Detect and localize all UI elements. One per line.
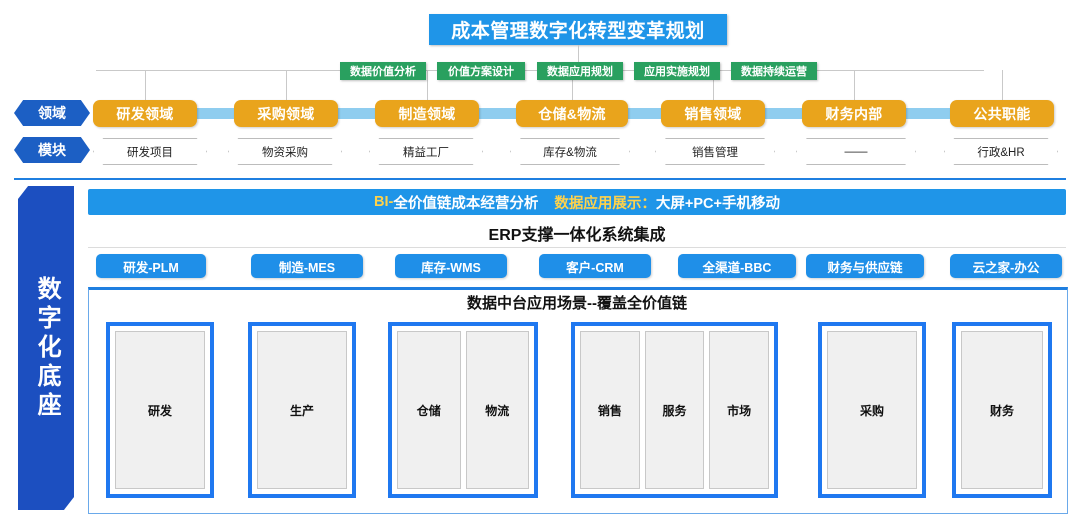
phase-box[interactable]: 数据应用规划: [537, 62, 623, 80]
scenario-group: 仓储物流: [388, 322, 538, 498]
erp-system-button[interactable]: 制造-MES: [251, 254, 363, 278]
scenario-cell[interactable]: 物流: [466, 331, 530, 489]
bus-drop-7: [1002, 70, 1003, 100]
section-divider: [14, 178, 1066, 180]
scenario-group: 研发: [106, 322, 214, 498]
scenario-cell[interactable]: 采购: [827, 331, 917, 489]
phase-box[interactable]: 数据持续运营: [731, 62, 817, 80]
scenario-group: 销售服务市场: [571, 322, 778, 498]
bi-accent-1: BI-: [374, 194, 393, 210]
domain-pill[interactable]: 销售领域: [661, 100, 765, 127]
erp-system-button[interactable]: 研发-PLM: [96, 254, 206, 278]
domain-pill[interactable]: 制造领域: [375, 100, 479, 127]
module-hexagon[interactable]: 库存&物流: [510, 138, 630, 165]
domain-pill[interactable]: 公共职能: [950, 100, 1054, 127]
domain-connector-arrow: [758, 108, 808, 119]
bi-accent-2: 数据应用展示：: [554, 192, 656, 213]
bi-bar[interactable]: BI-全价值链成本经营分析 数据应用展示：大屏+PC+手机移动: [88, 189, 1066, 215]
phase-box[interactable]: 应用实施规划: [634, 62, 720, 80]
module-hexagon[interactable]: ——: [796, 138, 916, 165]
row-label-domain: 领域: [14, 100, 90, 126]
bus-drop-3: [427, 70, 428, 100]
domain-pill[interactable]: 仓储&物流: [516, 100, 628, 127]
scenario-group: 采购: [818, 322, 926, 498]
phase-box[interactable]: 数据价值分析: [340, 62, 426, 80]
erp-system-button[interactable]: 全渠道-BBC: [678, 254, 796, 278]
domain-connector-arrow: [472, 108, 522, 119]
scenario-cell[interactable]: 服务: [645, 331, 705, 489]
scenario-group: 生产: [248, 322, 356, 498]
module-hexagon[interactable]: 销售管理: [655, 138, 775, 165]
row-label-module: 模块: [14, 137, 90, 163]
module-hexagon[interactable]: 物资采购: [228, 138, 342, 165]
scenario-cell[interactable]: 财务: [961, 331, 1043, 489]
erp-system-button[interactable]: 库存-WMS: [395, 254, 507, 278]
scenario-cell[interactable]: 研发: [115, 331, 205, 489]
diagram-canvas: 成本管理数字化转型变革规划 数据价值分析价值方案设计数据应用规划应用实施规划数据…: [0, 0, 1080, 524]
domain-pill[interactable]: 财务内部: [802, 100, 906, 127]
scenario-cell[interactable]: 仓储: [397, 331, 461, 489]
data-platform-title: 数据中台应用场景--覆盖全价值链: [88, 291, 1066, 313]
bus-drop-6: [854, 70, 855, 100]
scenario-cell[interactable]: 生产: [257, 331, 347, 489]
phase-box[interactable]: 价值方案设计: [437, 62, 525, 80]
module-hexagon[interactable]: 精益工厂: [369, 138, 483, 165]
bus-drop-2: [286, 70, 287, 100]
domain-connector-arrow: [190, 108, 240, 119]
bi-text-2: 大屏+PC+手机移动: [656, 192, 780, 213]
bus-drop-1: [145, 70, 146, 100]
foundation-banner-label: 数字化底座: [32, 276, 60, 421]
foundation-banner: 数字化底座: [18, 186, 74, 510]
scenario-group: 财务: [952, 322, 1052, 498]
erp-underline: [88, 247, 1066, 248]
bi-text-1: 全价值链成本经营分析: [393, 192, 538, 213]
domain-connector-arrow: [899, 108, 956, 119]
module-hexagon[interactable]: 行政&HR: [944, 138, 1058, 165]
domain-pill[interactable]: 研发领域: [93, 100, 197, 127]
page-title: 成本管理数字化转型变革规划: [429, 14, 727, 45]
scenario-cell[interactable]: 销售: [580, 331, 640, 489]
module-hexagon[interactable]: 研发项目: [93, 138, 207, 165]
scenario-cell[interactable]: 市场: [709, 331, 769, 489]
domain-connector-arrow: [331, 108, 381, 119]
erp-system-button[interactable]: 客户-CRM: [539, 254, 651, 278]
domain-pill[interactable]: 采购领域: [234, 100, 338, 127]
erp-system-button[interactable]: 云之家-办公: [950, 254, 1062, 278]
erp-system-button[interactable]: 财务与供应链: [806, 254, 924, 278]
erp-section-title: ERP支撑一体化系统集成: [88, 221, 1066, 245]
